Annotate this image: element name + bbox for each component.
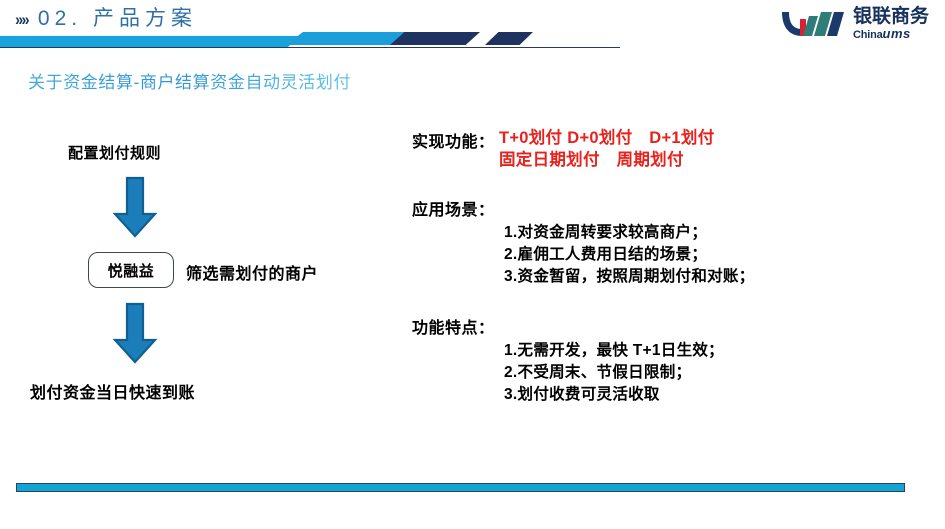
scenarios-list: 1.对资金周转要求较高商户； 2.雇佣工人费用日结的场景； 3.资金暂留，按照周… [504, 222, 932, 288]
down-arrow-icon-1 [112, 176, 158, 238]
flow-step-same-day-arrival: 划付资金当日快速到账 [30, 379, 195, 403]
functions-heading: 实现功能： [412, 128, 495, 152]
feature-item-1: 1.无需开发，最快 T+1日生效； [504, 340, 932, 362]
product-pill-label: 悦融益 [108, 260, 155, 281]
logo-english-name: Chinaums [853, 27, 929, 41]
block-features: 功能特点： 1.无需开发，最快 T+1日生效； 2.不受周末、节假日限制； 3.… [412, 314, 932, 406]
block-functions: 实现功能： T+0划付 D+0划付 D+1划付 固定日期划付 周期划付 [412, 128, 932, 172]
feature-item-2: 2.不受周末、节假日限制； [504, 362, 932, 384]
scenario-item-2: 2.雇佣工人费用日结的场景； [504, 244, 932, 266]
features-heading: 功能特点： [412, 314, 495, 338]
functions-line-2: 固定日期划付 周期划付 [499, 150, 715, 172]
logo-en-ums: ums [883, 26, 911, 41]
band-navy-shape-2 [485, 32, 533, 45]
functions-line-1: T+0划付 D+0划付 D+1划付 [499, 128, 715, 150]
logo-en-china: China [853, 29, 883, 41]
scenarios-heading: 应用场景： [412, 196, 495, 220]
features-list: 1.无需开发，最快 T+1日生效； 2.不受周末、节假日限制； 3.划付收费可灵… [504, 340, 932, 406]
product-pill-yuerongyi[interactable]: 悦融益 [88, 252, 174, 288]
flow-diagram: 配置划付规则 悦融益 筛选需划付的商户 划付资金当日快速到账 [0, 0, 400, 529]
functions-values: T+0划付 D+0划付 D+1划付 固定日期划付 周期划付 [499, 128, 715, 172]
footer-accent-bar [16, 483, 905, 492]
feature-item-3: 3.划付收费可灵活收取 [504, 384, 932, 406]
content-column: 实现功能： T+0划付 D+0划付 D+1划付 固定日期划付 周期划付 应用场景… [412, 126, 932, 424]
block-scenarios: 应用场景： 1.对资金周转要求较高商户； 2.雇佣工人费用日结的场景； 3.资金… [412, 196, 932, 288]
logo-chinese-name: 银联商务 [853, 7, 929, 27]
scenario-item-1: 1.对资金周转要求较高商户； [504, 222, 932, 244]
ums-mark-icon [780, 9, 846, 39]
down-arrow-icon-2 [112, 302, 158, 364]
company-logo: 银联商务 Chinaums [780, 6, 929, 42]
scenario-item-3: 3.资金暂留，按照周期划付和对账； [504, 266, 932, 288]
flow-step-configure-rules: 配置划付规则 [68, 142, 161, 163]
flow-step-filter-merchants: 筛选需划付的商户 [186, 260, 318, 284]
logo-wordmark: 银联商务 Chinaums [853, 7, 929, 41]
band-navy-shape-1 [390, 32, 480, 45]
